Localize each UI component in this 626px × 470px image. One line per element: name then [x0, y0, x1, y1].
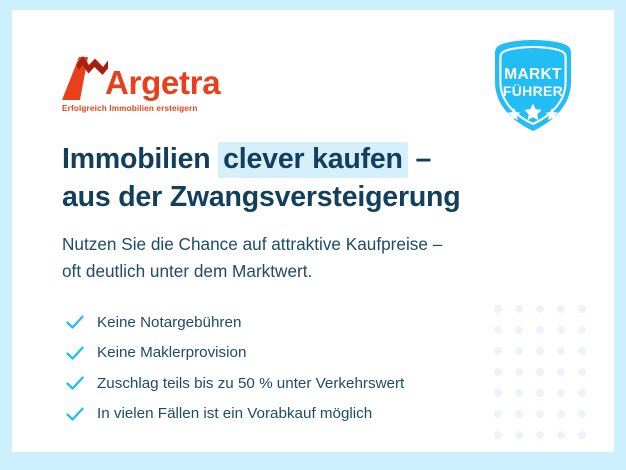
decorative-dot	[578, 368, 586, 376]
dot-cell	[508, 298, 529, 319]
decorative-dot	[557, 389, 565, 397]
decorative-dot	[494, 452, 502, 453]
dot-cell	[529, 424, 550, 445]
argetra-logo[interactable]: Argetra Erfolgreich Immobilien ersteiger…	[62, 54, 220, 113]
benefit-label: Zuschlag teils bis zu 50 % unter Verkehr…	[97, 375, 404, 392]
decorative-dot	[557, 431, 565, 439]
dot-cell	[487, 424, 508, 445]
decorative-dot	[557, 410, 565, 418]
decorative-dot	[578, 452, 586, 453]
decorative-dot	[536, 452, 544, 453]
decorative-dot	[557, 347, 565, 355]
decorative-dot	[494, 368, 502, 376]
dot-cell	[487, 361, 508, 382]
decorative-dot	[536, 410, 544, 418]
decorative-dot	[515, 431, 523, 439]
headline-line2: aus der Zwangsversteigerung	[62, 181, 460, 213]
decorative-dot	[494, 410, 502, 418]
subtitle-line2: oft deutlich unter dem Marktwert.	[62, 261, 312, 281]
decorative-dot	[578, 305, 586, 313]
dot-cell	[487, 445, 508, 452]
dot-cell	[550, 319, 571, 340]
dot-cell	[487, 382, 508, 403]
decorative-dot	[515, 410, 523, 418]
dot-cell	[571, 298, 592, 319]
decorative-dot	[536, 368, 544, 376]
decorative-dot	[536, 389, 544, 397]
decorative-dot	[536, 347, 544, 355]
dot-cell	[487, 319, 508, 340]
decorative-dot	[515, 389, 523, 397]
market-leader-badge: MARKT FÜHRER	[490, 38, 576, 134]
dot-cell	[487, 298, 508, 319]
decorative-dot	[557, 452, 565, 453]
headline-highlight: clever kaufen	[218, 142, 408, 178]
benefits-list: Keine NotargebührenKeine Maklerprovision…	[64, 307, 404, 429]
dot-cell	[529, 382, 550, 403]
decorative-dot	[557, 368, 565, 376]
decorative-dot	[578, 431, 586, 439]
dot-cell	[487, 340, 508, 361]
dot-cell	[571, 319, 592, 340]
benefit-item: Keine Maklerprovision	[64, 338, 404, 369]
check-icon	[64, 403, 86, 425]
subtitle-line1: Nutzen Sie die Chance auf attraktive Kau…	[62, 234, 442, 254]
decorative-dot	[578, 389, 586, 397]
dot-cell	[508, 403, 529, 424]
dot-cell	[550, 424, 571, 445]
badge-line2: FÜHRER	[503, 83, 563, 99]
decorative-dot	[557, 326, 565, 334]
decorative-dot	[578, 410, 586, 418]
dot-cell	[508, 319, 529, 340]
headline-line1: Immobilien clever kaufen –	[62, 142, 431, 178]
dot-cell	[571, 382, 592, 403]
benefit-item: Keine Notargebühren	[64, 307, 404, 338]
check-icon	[64, 372, 86, 394]
dot-cell	[550, 361, 571, 382]
dot-cell	[571, 340, 592, 361]
dot-cell	[550, 445, 571, 452]
dot-cell	[529, 445, 550, 452]
decorative-dot	[515, 368, 523, 376]
dot-cell	[508, 424, 529, 445]
benefit-item: In vielen Fällen ist ein Vorabkauf mögli…	[64, 399, 404, 430]
headline-line1-post: –	[408, 143, 431, 175]
decorative-dot	[494, 305, 502, 313]
headline: Immobilien clever kaufen – aus der Zwang…	[62, 141, 460, 216]
decorative-dot	[515, 326, 523, 334]
dot-cell	[571, 403, 592, 424]
decorative-dot	[515, 305, 523, 313]
decorative-dot	[494, 431, 502, 439]
argetra-roof-a-icon	[62, 54, 108, 100]
dot-cell	[487, 403, 508, 424]
dot-cell	[550, 382, 571, 403]
decorative-dot	[536, 326, 544, 334]
decorative-dot	[494, 389, 502, 397]
decorative-dot	[515, 347, 523, 355]
decorative-dot	[536, 431, 544, 439]
decorative-dot	[515, 452, 523, 453]
dot-cell	[529, 319, 550, 340]
decorative-dot	[494, 326, 502, 334]
dot-cell	[508, 361, 529, 382]
dot-cell	[571, 445, 592, 452]
benefit-item: Zuschlag teils bis zu 50 % unter Verkehr…	[64, 368, 404, 399]
dot-cell	[571, 424, 592, 445]
dot-cell	[550, 403, 571, 424]
dot-cell	[529, 403, 550, 424]
decorative-dot	[578, 347, 586, 355]
decorative-dot	[557, 305, 565, 313]
check-icon	[64, 311, 86, 333]
dot-cell	[529, 298, 550, 319]
headline-line1-pre: Immobilien	[62, 143, 218, 175]
decorative-dot	[494, 347, 502, 355]
ad-banner: Argetra Erfolgreich Immobilien ersteiger…	[0, 0, 626, 470]
check-icon	[64, 342, 86, 364]
logo-tagline: Erfolgreich Immobilien ersteigern	[62, 104, 220, 113]
ad-card: Argetra Erfolgreich Immobilien ersteiger…	[12, 10, 614, 452]
dot-cell	[571, 361, 592, 382]
logo-wordmark: Argetra	[105, 66, 220, 99]
decorative-dot	[578, 326, 586, 334]
benefit-label: Keine Notargebühren	[97, 314, 241, 331]
logo-mark-row: Argetra	[62, 54, 220, 100]
benefit-label: In vielen Fällen ist ein Vorabkauf mögli…	[97, 405, 372, 422]
dot-cell	[529, 361, 550, 382]
badge-line1: MARKT	[504, 66, 562, 83]
dot-cell	[508, 445, 529, 452]
decorative-dot	[536, 305, 544, 313]
subtitle: Nutzen Sie die Chance auf attraktive Kau…	[62, 231, 442, 284]
dot-cell	[529, 340, 550, 361]
decorative-dot-grid	[487, 298, 592, 452]
dot-cell	[550, 298, 571, 319]
benefit-label: Keine Maklerprovision	[97, 344, 246, 361]
dot-cell	[550, 340, 571, 361]
dot-cell	[508, 382, 529, 403]
dot-cell	[508, 340, 529, 361]
